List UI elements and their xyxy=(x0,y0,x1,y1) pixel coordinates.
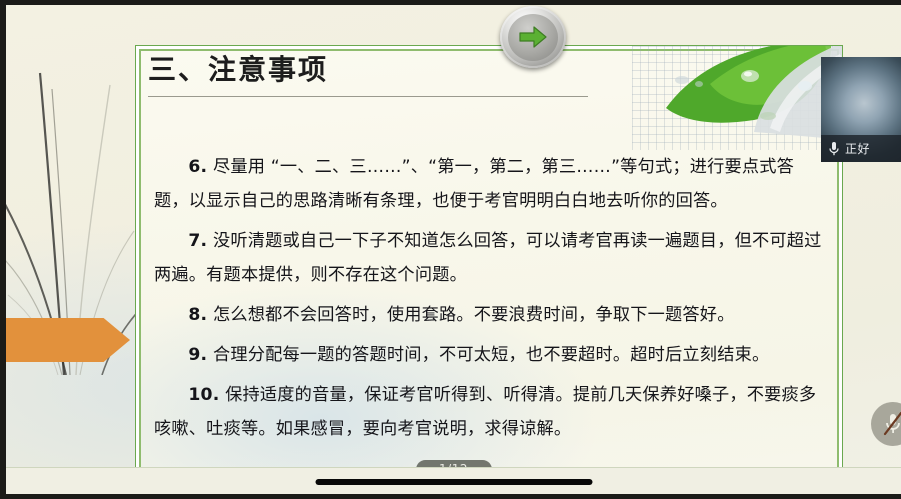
list-item: 9. 合理分配每一题的答题时间，不可太短，也不要超时。超时后立刻结束。 xyxy=(154,338,824,372)
participant-video-tile[interactable]: 正好 xyxy=(821,57,901,162)
list-item-text: 没听清题或自己一下子不知道怎么回答，可以请考官再读一遍题目，但不可超过两遍。有题… xyxy=(154,231,822,285)
presentation-slide-surface[interactable]: 三、注意事项 6. 尽量用 “一、二、三……”、“第一，第二，第三……”等句式；… xyxy=(6,5,901,494)
title-divider xyxy=(148,96,588,97)
list-item-text: 保持适度的音量，保证考官听得到、听得清。提前几天保养好嗓子，不要痰多咳嗽、吐痰等… xyxy=(154,385,816,439)
list-item: 8. 怎么想都不会回答时，使用套路。不要浪费时间，争取下一题答好。 xyxy=(154,298,824,332)
list-item-text: 合理分配每一题的答题时间，不可太短，也不要超时。超时后立刻结束。 xyxy=(213,345,769,365)
list-item-text: 怎么想都不会回答时，使用套路。不要浪费时间，争取下一题答好。 xyxy=(213,305,735,325)
list-item-number: 10. xyxy=(188,385,219,405)
green-leaf-waterdrops-decoration xyxy=(658,45,843,146)
screen-share-viewer: 三、注意事项 6. 尽量用 “一、二、三……”、“第一，第二，第三……”等句式；… xyxy=(0,0,901,499)
list-item-number: 8. xyxy=(188,305,207,325)
list-item-number: 9. xyxy=(188,345,207,365)
list-item: 6. 尽量用 “一、二、三……”、“第一，第二，第三……”等句式；进行要点式答题… xyxy=(154,150,824,218)
list-item-number: 7. xyxy=(188,231,207,251)
slide-content-frame: 三、注意事项 6. 尽量用 “一、二、三……”、“第一，第二，第三……”等句式；… xyxy=(135,45,843,480)
list-item-number: 6. xyxy=(188,157,207,177)
participant-name: 正好 xyxy=(845,140,870,157)
home-indicator[interactable] xyxy=(315,479,592,485)
next-slide-button-inner xyxy=(508,14,558,61)
page-title: 三、注意事项 xyxy=(148,52,328,87)
green-arrow-right-icon xyxy=(518,24,548,50)
list-item: 10. 保持适度的音量，保证考官听得到、听得清。提前几天保养好嗓子，不要痰多咳嗽… xyxy=(154,378,824,446)
orange-chevron-banner xyxy=(6,318,130,362)
next-slide-button[interactable] xyxy=(500,6,566,68)
list-item-text: 尽量用 “一、二、三……”、“第一，第二，第三……”等句式；进行要点式答题，以显… xyxy=(154,157,794,211)
microphone-icon xyxy=(828,141,840,157)
slide-body-text: 6. 尽量用 “一、二、三……”、“第一，第二，第三……”等句式；进行要点式答题… xyxy=(154,150,824,452)
participant-nameplate: 正好 xyxy=(821,135,901,162)
microphone-muted-icon xyxy=(882,411,901,437)
list-item: 7. 没听清题或自己一下子不知道怎么回答，可以请考官再读一遍题目，但不可超过两遍… xyxy=(154,224,824,292)
